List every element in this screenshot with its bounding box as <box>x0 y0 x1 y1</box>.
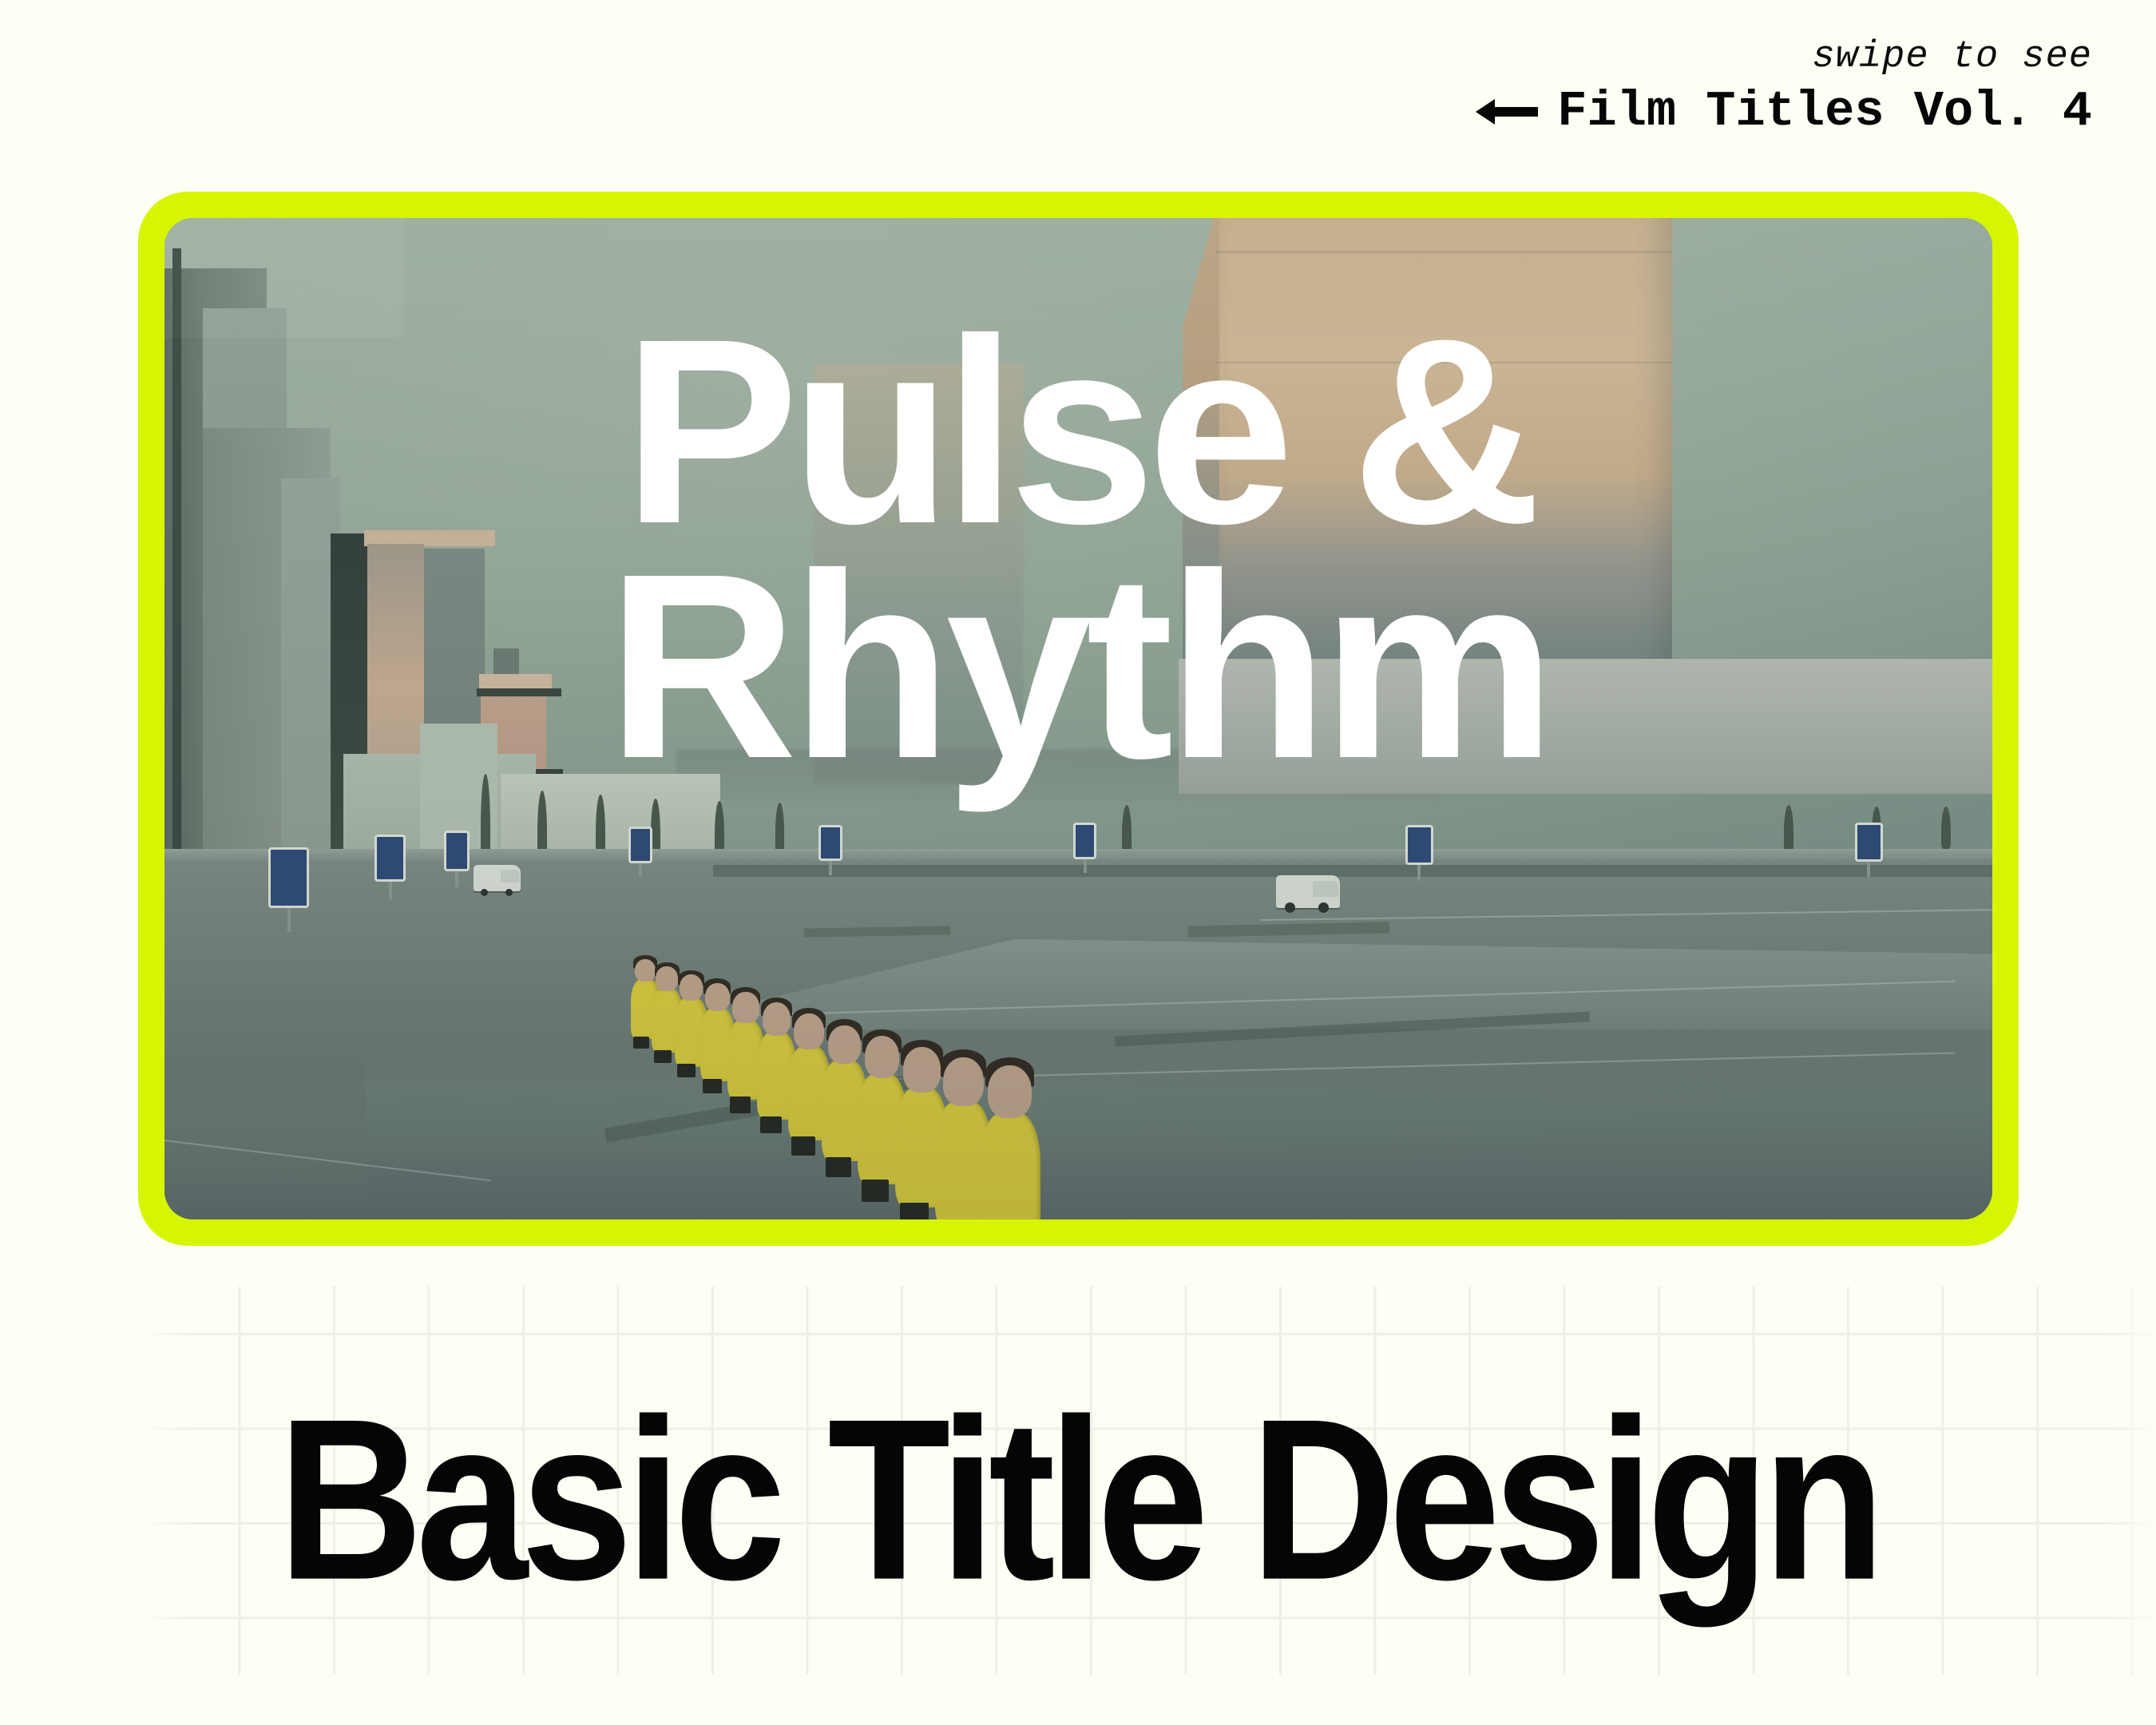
building-ledge-upper <box>477 688 561 696</box>
sign-plate <box>818 825 842 861</box>
blue-parking-sign <box>1405 825 1433 881</box>
asphalt-seam <box>713 865 1992 877</box>
sign-post <box>829 861 832 875</box>
blue-parking-sign <box>818 825 842 875</box>
van-wheel <box>1285 902 1295 913</box>
marcher-head <box>988 1065 1032 1118</box>
collection-label[interactable]: Film Titles Vol. 4 <box>1557 87 2092 137</box>
tower-band-upper <box>1215 251 1672 253</box>
sign-post <box>455 871 458 887</box>
marcher-boot <box>791 1136 814 1156</box>
marcher-boot <box>730 1096 751 1112</box>
marcher <box>980 1112 1040 1219</box>
marcher-boot <box>900 1203 929 1219</box>
parking-lot-ground <box>164 851 1992 1219</box>
marcher-head <box>656 966 678 991</box>
marcher-head <box>635 959 656 981</box>
sign-post <box>1084 859 1087 874</box>
page-title: Basic Title Design <box>0 1386 2156 1615</box>
collection-nav[interactable]: Film Titles Vol. 4 <box>1474 87 2092 137</box>
sign-plate <box>1855 823 1882 862</box>
cypress-tree <box>1784 805 1793 851</box>
sign-plate <box>375 835 406 882</box>
small-building-cap <box>479 674 553 689</box>
van-wheel <box>481 889 488 896</box>
tower-band-mid <box>1215 362 1672 363</box>
right-wall <box>1179 659 1992 794</box>
marcher-boot <box>760 1116 783 1134</box>
marcher-boot <box>862 1180 889 1202</box>
van-wheel <box>1318 902 1329 913</box>
marcher-head <box>943 1057 984 1106</box>
marcher-head <box>705 983 730 1011</box>
hero-photo: Pulse & Rhythm <box>164 218 1992 1219</box>
sign-plate <box>444 831 470 871</box>
van-cab <box>1313 881 1338 897</box>
van-cab <box>501 870 520 882</box>
marcher-head <box>865 1036 900 1078</box>
white-van <box>1276 875 1340 908</box>
sign-plate <box>268 847 308 909</box>
sign-post <box>639 863 642 878</box>
marcher-boot <box>633 1037 650 1049</box>
marcher-head <box>828 1025 861 1064</box>
marcher-boot <box>654 1050 672 1063</box>
blue-parking-sign <box>1855 823 1882 877</box>
marcher-head <box>732 992 759 1022</box>
slide-canvas: swipe to see Film Titles Vol. 4 <box>0 0 2156 1725</box>
marcher-boot <box>677 1064 696 1077</box>
secondary-tower <box>814 363 1024 784</box>
marching-crowd <box>631 979 1051 1209</box>
blue-parking-sign <box>268 847 308 933</box>
blue-parking-sign <box>375 835 406 900</box>
hero-card[interactable]: Pulse & Rhythm <box>138 192 2019 1246</box>
topbar: swipe to see Film Titles Vol. 4 <box>1474 38 2092 137</box>
marcher-head <box>794 1013 824 1049</box>
arrow-left-long-icon[interactable] <box>1474 94 1540 129</box>
blue-parking-sign <box>444 831 470 886</box>
cypress-tree <box>1941 807 1951 849</box>
white-van <box>474 865 521 891</box>
swipe-hint-label: swipe to see <box>1474 38 2092 76</box>
sign-plate <box>628 827 652 862</box>
marcher-boot <box>826 1157 851 1177</box>
sign-plate <box>1405 825 1433 866</box>
mid-white-building <box>501 774 720 859</box>
marcher-head <box>680 974 703 1001</box>
sign-post <box>1417 865 1421 881</box>
marcher-head <box>903 1047 941 1092</box>
film-grain-overlay <box>164 218 404 338</box>
rooftop-box <box>493 648 519 676</box>
blue-parking-sign <box>628 827 652 877</box>
blue-parking-sign <box>1073 823 1097 873</box>
sign-plate <box>1073 823 1097 859</box>
marcher-boot <box>703 1079 722 1093</box>
sign-post <box>287 908 291 932</box>
marcher-head <box>763 1002 791 1036</box>
van-wheel <box>505 889 513 896</box>
sign-post <box>389 882 392 900</box>
sign-post <box>1867 862 1870 877</box>
